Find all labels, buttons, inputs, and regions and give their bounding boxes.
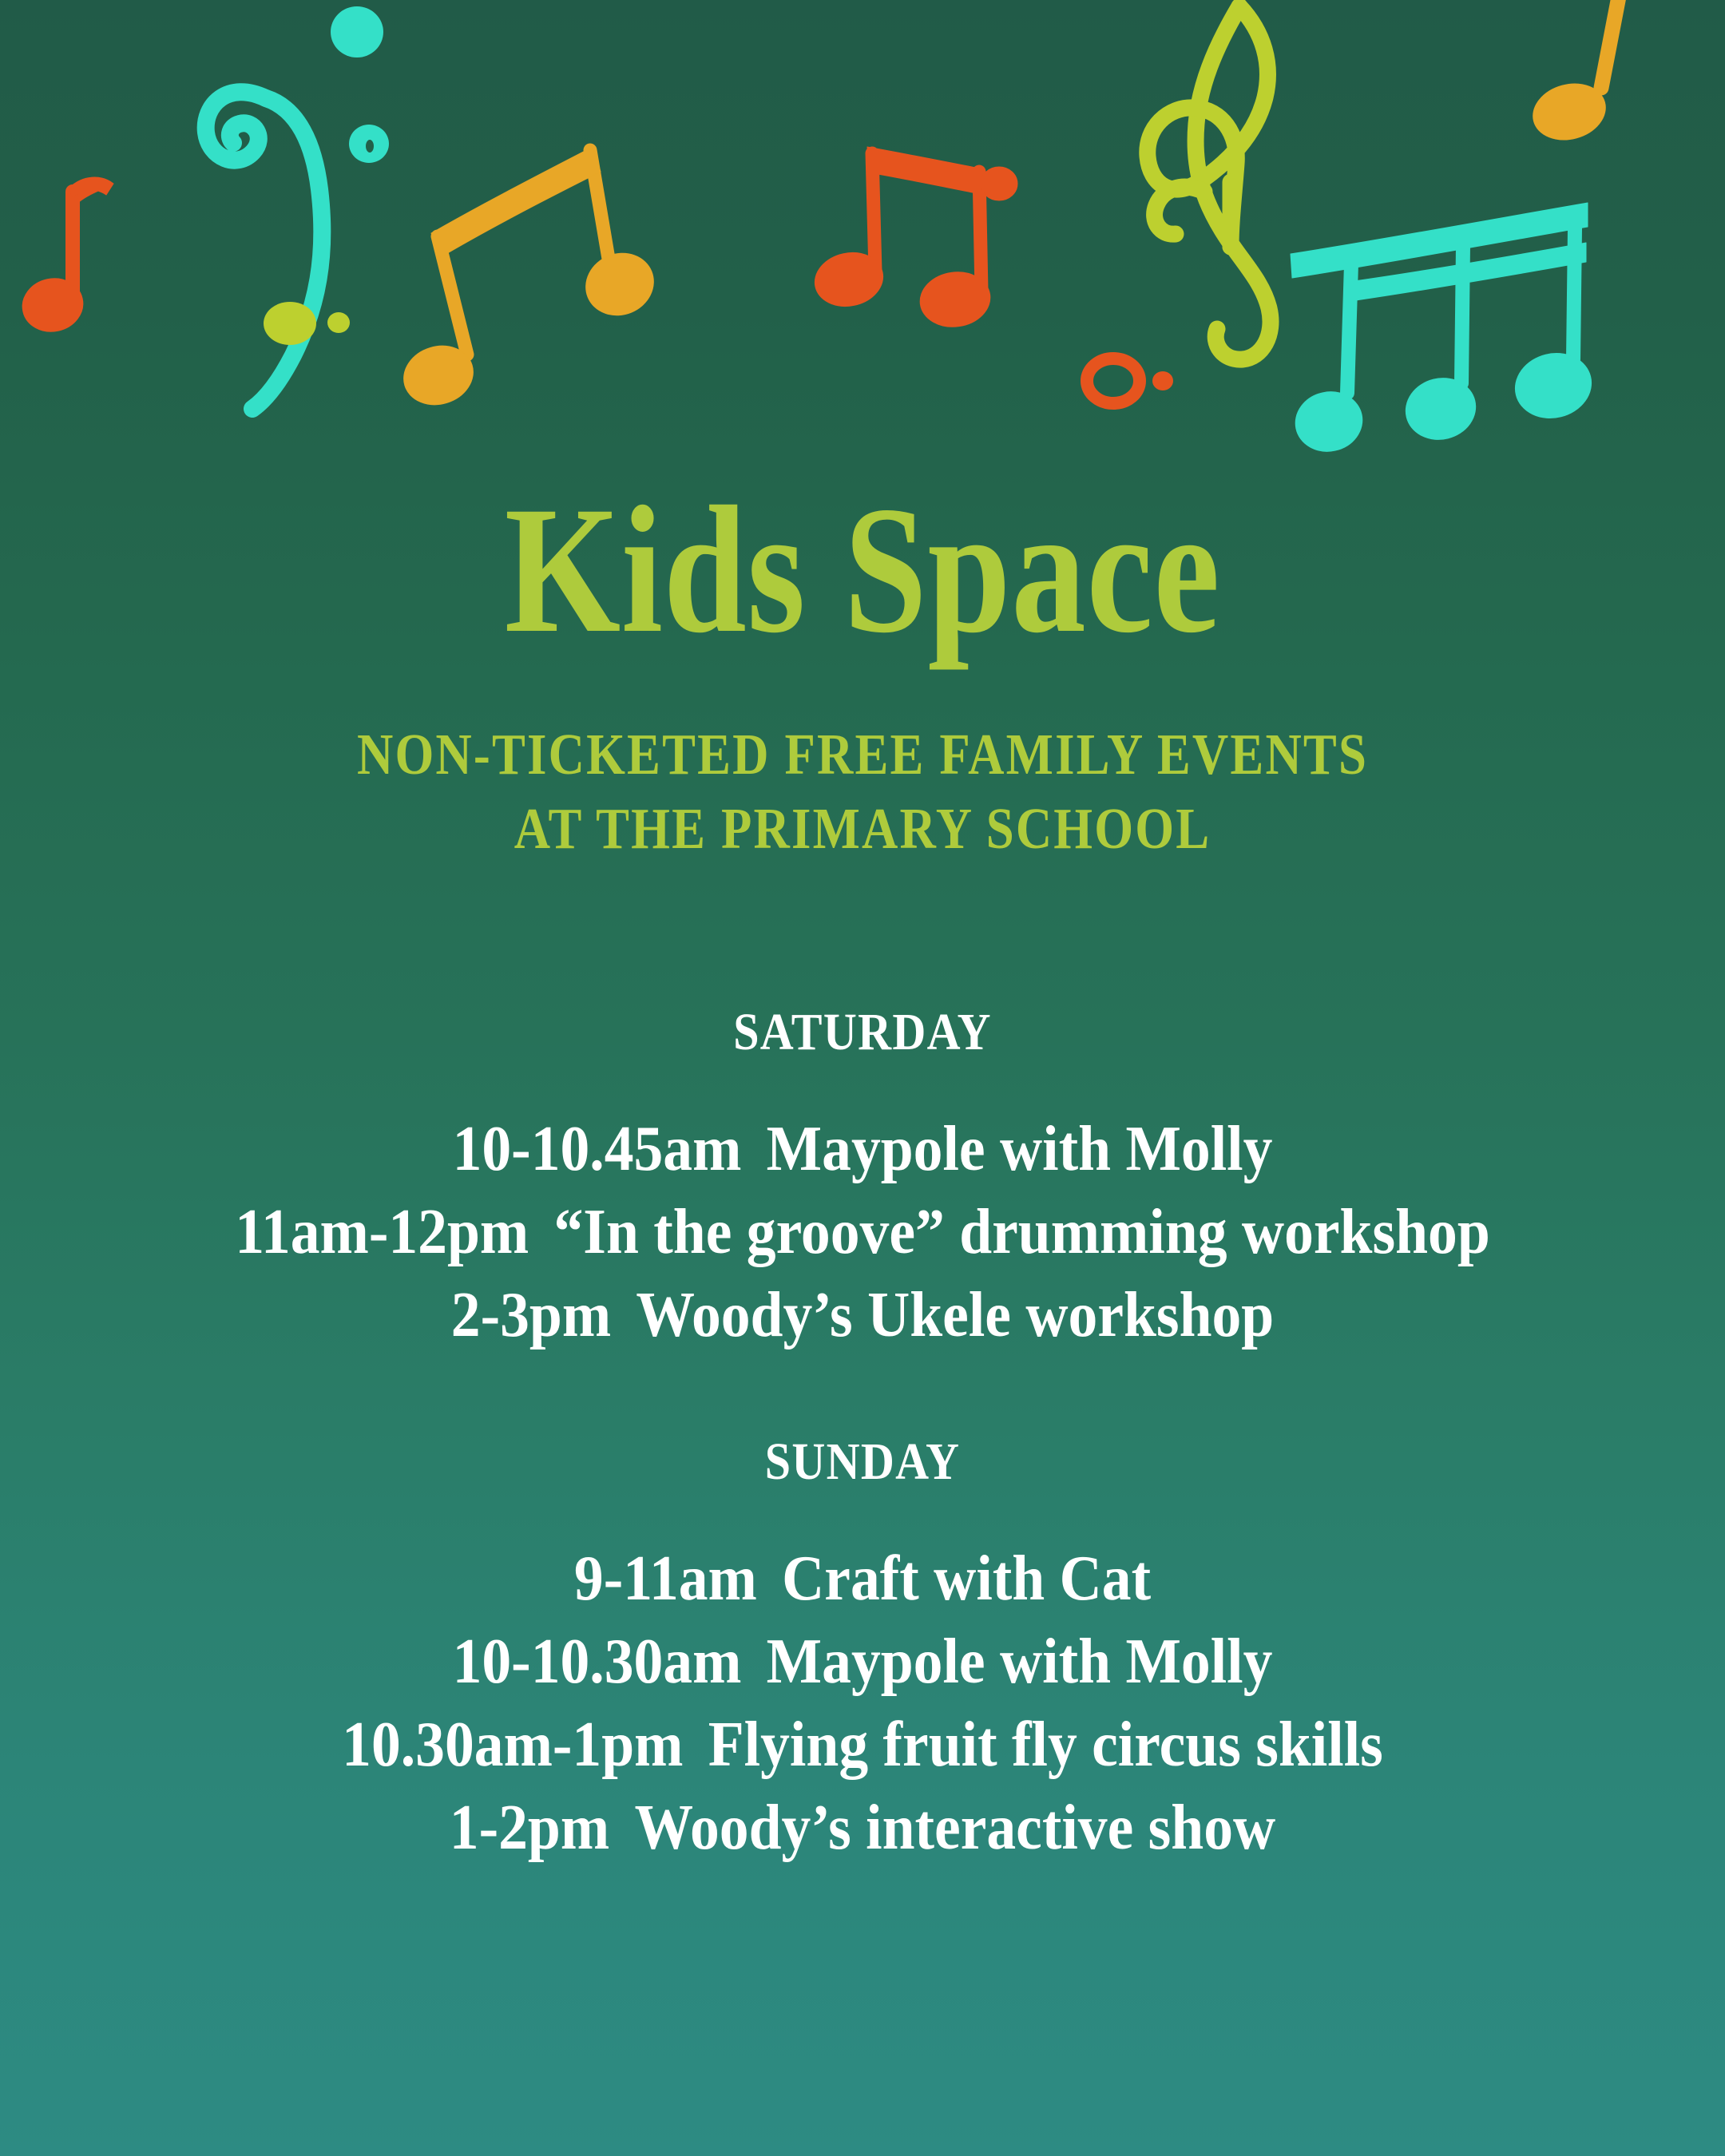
event-time: 10.30am-1pm bbox=[342, 1710, 683, 1780]
list-item: 10.30am-1pmFlying fruit fly circus skill… bbox=[69, 1703, 1656, 1786]
poster-canvas: Kids Space NON-TICKETED FREE FAMILY EVEN… bbox=[0, 0, 1725, 2156]
event-list-sunday: 9-11amCraft with Cat 10-10.30amMaypole w… bbox=[0, 1537, 1725, 1869]
event-time: 10-10.45am bbox=[453, 1114, 742, 1184]
eighth-note-orange-icon bbox=[18, 177, 113, 337]
event-title: Woody’s interactive show bbox=[634, 1793, 1275, 1863]
event-title: Woody’s Ukele workshop bbox=[636, 1280, 1274, 1350]
event-schedule: SATURDAY 10-10.45amMaypole with Molly 11… bbox=[0, 1002, 1725, 1869]
cyan-dot-small-icon bbox=[349, 125, 389, 163]
beamed-triple-notes-cyan-icon bbox=[1290, 203, 1598, 458]
day-heading-sunday: SUNDAY bbox=[104, 1432, 1622, 1492]
treble-clef-icon bbox=[1148, 6, 1271, 359]
lime-dot-small-icon bbox=[327, 312, 350, 333]
list-item: 10-10.30amMaypole with Molly bbox=[69, 1620, 1656, 1703]
day-block-saturday: SATURDAY 10-10.45amMaypole with Molly 11… bbox=[0, 1002, 1725, 1357]
event-time: 11am-12pm bbox=[235, 1197, 529, 1267]
beamed-eighth-notes-orange-icon bbox=[810, 147, 1017, 331]
list-item: 11am-12pm“In the groove” drumming worksh… bbox=[69, 1191, 1656, 1274]
subtitle-line-2: AT THE PRIMARY SCHOOL bbox=[121, 791, 1604, 866]
event-list-saturday: 10-10.45amMaypole with Molly 11am-12pm“I… bbox=[0, 1108, 1725, 1357]
event-title: Maypole with Molly bbox=[767, 1114, 1273, 1184]
quarter-note-amber-icon bbox=[1527, 0, 1622, 148]
lime-dot-large-icon bbox=[264, 302, 316, 345]
orange-ring-icon bbox=[1087, 359, 1140, 403]
event-title: Maypole with Molly bbox=[767, 1627, 1273, 1697]
list-item: 9-11amCraft with Cat bbox=[69, 1537, 1656, 1620]
list-item: 1-2pmWoody’s interactive show bbox=[69, 1786, 1656, 1869]
page-title: Kids Space bbox=[155, 479, 1569, 661]
list-item: 2-3pmWoody’s Ukele workshop bbox=[69, 1274, 1656, 1357]
music-notes-decoration bbox=[0, 0, 1725, 479]
poster-subtitle: NON-TICKETED FREE FAMILY EVENTS AT THE P… bbox=[121, 717, 1604, 866]
event-title: “In the groove” drumming workshop bbox=[553, 1197, 1489, 1267]
cyan-dot-large-icon bbox=[331, 6, 383, 57]
orange-dot-icon bbox=[1152, 371, 1173, 390]
day-block-sunday: SUNDAY 9-11amCraft with Cat 10-10.30amMa… bbox=[0, 1432, 1725, 1869]
list-item: 10-10.45amMaypole with Molly bbox=[69, 1108, 1656, 1191]
day-heading-saturday: SATURDAY bbox=[104, 1002, 1622, 1063]
event-time: 2-3pm bbox=[451, 1280, 611, 1350]
poster-headline: Kids Space NON-TICKETED FREE FAMILY EVEN… bbox=[0, 479, 1725, 866]
event-time: 1-2pm bbox=[450, 1793, 609, 1863]
event-time: 10-10.30am bbox=[453, 1627, 742, 1697]
event-title: Craft with Cat bbox=[782, 1544, 1151, 1614]
beamed-eighth-notes-amber-icon bbox=[396, 147, 663, 413]
event-title: Flying fruit fly circus skills bbox=[708, 1710, 1383, 1780]
subtitle-line-1: NON-TICKETED FREE FAMILY EVENTS bbox=[121, 717, 1604, 791]
event-time: 9-11am bbox=[574, 1544, 757, 1614]
bass-clef-icon bbox=[206, 92, 323, 409]
